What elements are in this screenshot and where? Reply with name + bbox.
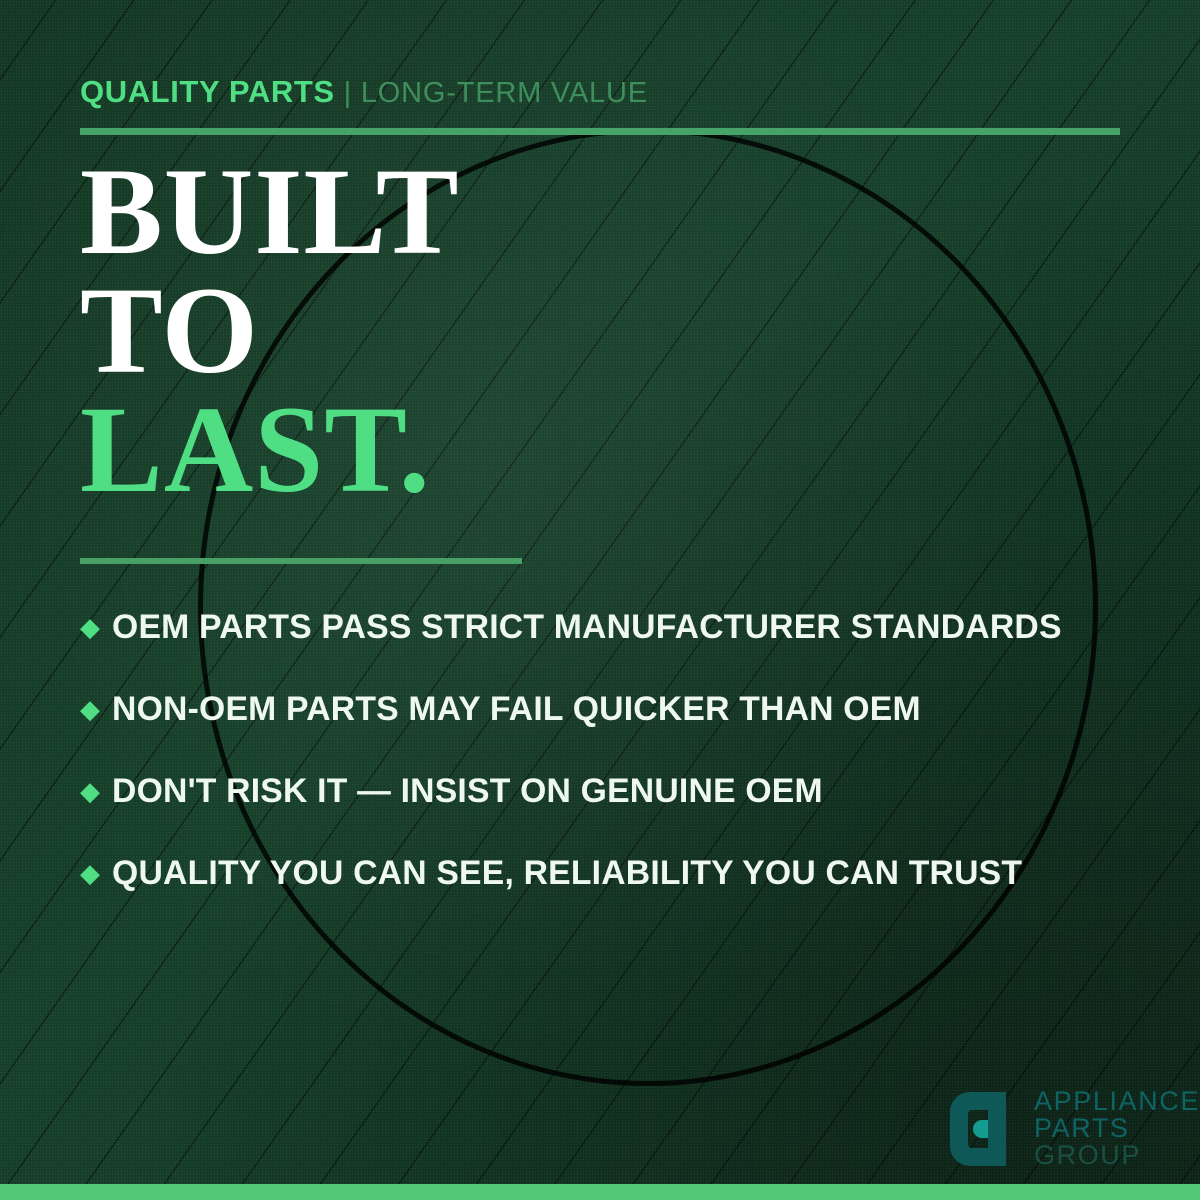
kicker-strong-label: QUALITY PARTS bbox=[80, 74, 335, 109]
brand-logo: APPLIANCE PARTS GROUP bbox=[948, 1088, 1200, 1169]
headline-line-1: BUILT bbox=[80, 152, 460, 271]
poster-canvas: QUALITY PARTS| LONG-TERM VALUE BUILT TO … bbox=[0, 0, 1200, 1200]
kicker-line: QUALITY PARTS| LONG-TERM VALUE bbox=[80, 74, 648, 110]
diamond-bullet-icon: ◆ bbox=[80, 614, 112, 640]
brand-wordmark: APPLIANCE PARTS GROUP bbox=[1034, 1088, 1200, 1169]
brand-word-parts: PARTS bbox=[1034, 1115, 1200, 1142]
bottom-accent-bar bbox=[0, 1184, 1200, 1200]
benefits-list: ◆ OEM PARTS PASS STRICT MANUFACTURER STA… bbox=[80, 586, 1150, 914]
list-item: ◆ DON'T RISK IT — INSIST ON GENUINE OEM bbox=[80, 750, 1150, 832]
list-item: ◆ OEM PARTS PASS STRICT MANUFACTURER STA… bbox=[80, 586, 1150, 668]
page-title: BUILT TO LAST. bbox=[80, 152, 460, 509]
list-item-label: DON'T RISK IT — INSIST ON GENUINE OEM bbox=[112, 772, 1142, 811]
diamond-bullet-icon: ◆ bbox=[80, 778, 112, 804]
brand-word-appliance: APPLIANCE bbox=[1034, 1088, 1200, 1115]
brand-word-group: GROUP bbox=[1034, 1142, 1200, 1169]
list-item: ◆ QUALITY YOU CAN SEE, RELIABILITY YOU C… bbox=[80, 832, 1150, 914]
appliance-parts-group-g-mark-icon bbox=[948, 1090, 1024, 1168]
list-item: ◆ NON-OEM PARTS MAY FAIL QUICKER THAN OE… bbox=[80, 668, 1150, 750]
headline-line-3: LAST. bbox=[80, 390, 460, 509]
headline-underline-rule bbox=[80, 558, 522, 564]
diamond-bullet-icon: ◆ bbox=[80, 860, 112, 886]
list-item-label: NON-OEM PARTS MAY FAIL QUICKER THAN OEM bbox=[112, 690, 1142, 729]
poster-content: QUALITY PARTS| LONG-TERM VALUE BUILT TO … bbox=[0, 0, 1200, 1200]
list-item-label: QUALITY YOU CAN SEE, RELIABILITY YOU CAN… bbox=[112, 854, 1142, 893]
diamond-bullet-icon: ◆ bbox=[80, 696, 112, 722]
kicker-sub-label: | LONG-TERM VALUE bbox=[344, 77, 648, 109]
headline-line-2: TO bbox=[80, 271, 460, 390]
list-item-label: OEM PARTS PASS STRICT MANUFACTURER STAND… bbox=[112, 608, 1142, 647]
header-divider-rule bbox=[80, 128, 1120, 135]
